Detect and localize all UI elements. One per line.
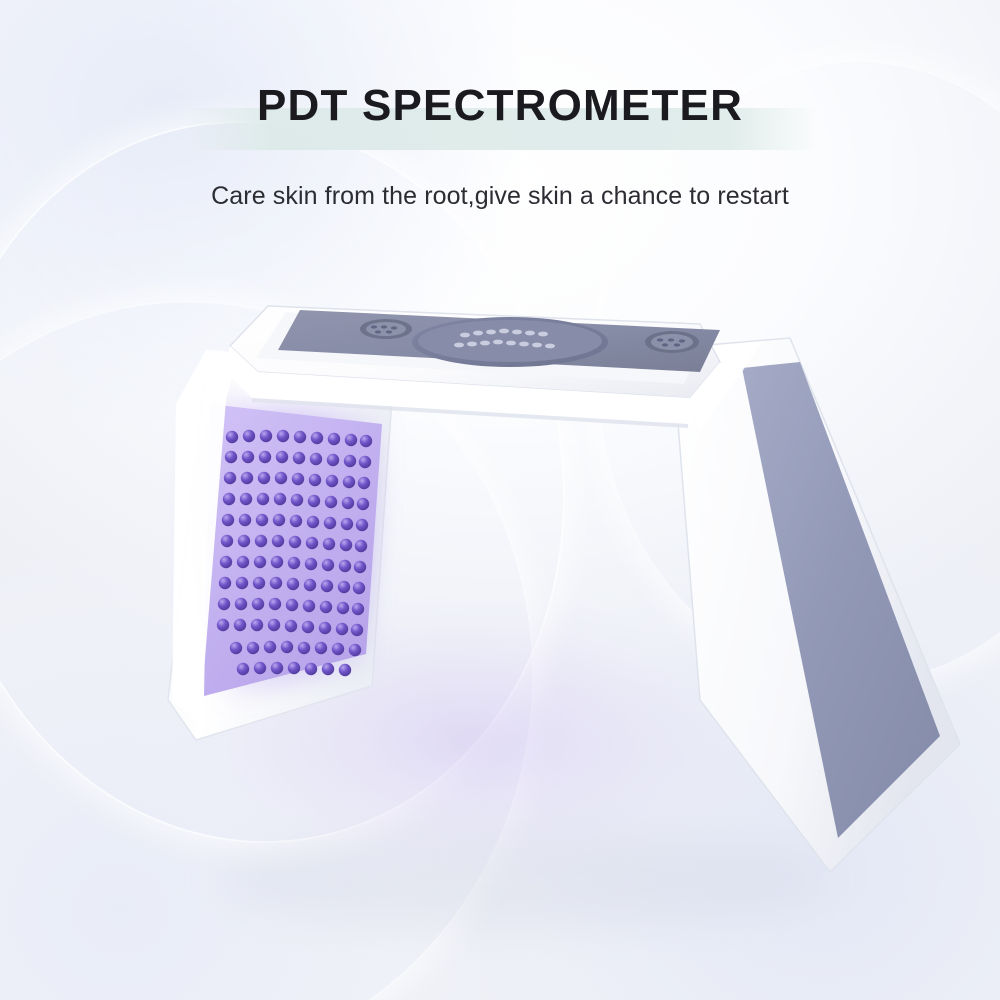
left-vent-grille — [360, 319, 412, 339]
poster-canvas: PDT SPECTROMETER Care skin from the root… — [0, 0, 1000, 1000]
page-title: PDT SPECTROMETER — [0, 84, 1000, 128]
left-wing — [168, 350, 392, 740]
device-shadow — [220, 832, 820, 928]
title-block: PDT SPECTROMETER Care skin from the root… — [0, 84, 1000, 211]
page-subtitle: Care skin from the root,give skin a chan… — [0, 182, 1000, 211]
center-display-panel — [412, 317, 608, 367]
right-vent-grille — [645, 331, 699, 353]
